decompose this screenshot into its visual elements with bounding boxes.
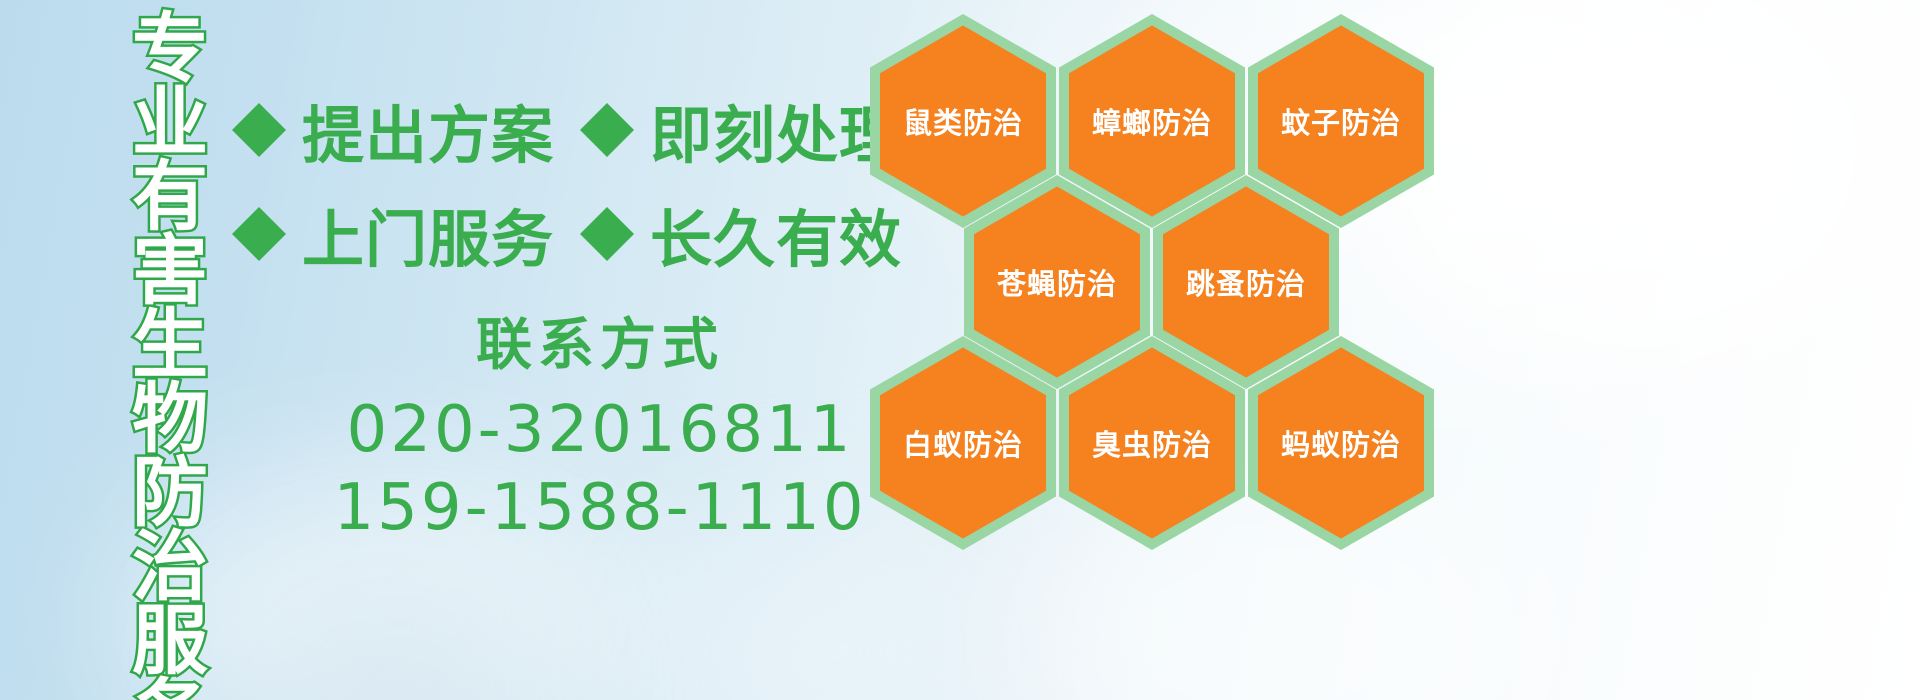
- service-label: 白蚁防治: [870, 336, 1056, 550]
- contact-phone-landline[interactable]: 020-32016811: [330, 391, 870, 469]
- vertical-headline: 专业有害生物防治服务: [108, 8, 200, 700]
- feature-item-2: 即刻处理: [580, 85, 902, 175]
- feature-item-4: 长久有效: [580, 189, 902, 279]
- feature-item-3: 上门服务: [232, 189, 554, 279]
- diamond-icon: [232, 180, 286, 234]
- feature-item-1: 提出方案: [232, 85, 554, 175]
- feature-label: 上门服务: [302, 189, 554, 279]
- service-hexagon-ant[interactable]: 蚂蚁防治: [1248, 336, 1434, 550]
- background-haze: [250, 600, 550, 700]
- feature-label: 提出方案: [302, 85, 554, 175]
- feature-row: 上门服务 长久有效: [232, 182, 872, 286]
- feature-list: 提出方案 即刻处理 上门服务 长久有效: [232, 78, 872, 286]
- service-label: 臭虫防治: [1059, 336, 1245, 550]
- feature-row: 提出方案 即刻处理: [232, 78, 872, 182]
- contact-heading: 联系方式: [330, 300, 870, 381]
- service-hexagon-bedbug[interactable]: 臭虫防治: [1059, 336, 1245, 550]
- service-hexagon-termite[interactable]: 白蚁防治: [870, 336, 1056, 550]
- diamond-icon: [580, 180, 634, 234]
- contact-phone-mobile[interactable]: 159-1588-1110: [330, 469, 870, 547]
- service-hexagon-grid: 鼠类防治 蟑螂防治 蚊子防治 苍蝇防治 跳蚤防治 白蚁防治: [856, 0, 1920, 600]
- contact-block: 联系方式 020-32016811 159-1588-1110: [330, 300, 870, 547]
- diamond-icon: [232, 76, 286, 130]
- service-label: 蚂蚁防治: [1248, 336, 1434, 550]
- pest-control-banner: 专业有害生物防治服务 提出方案 即刻处理 上门服务 长久有效 联系方式: [0, 0, 1920, 700]
- diamond-icon: [580, 76, 634, 130]
